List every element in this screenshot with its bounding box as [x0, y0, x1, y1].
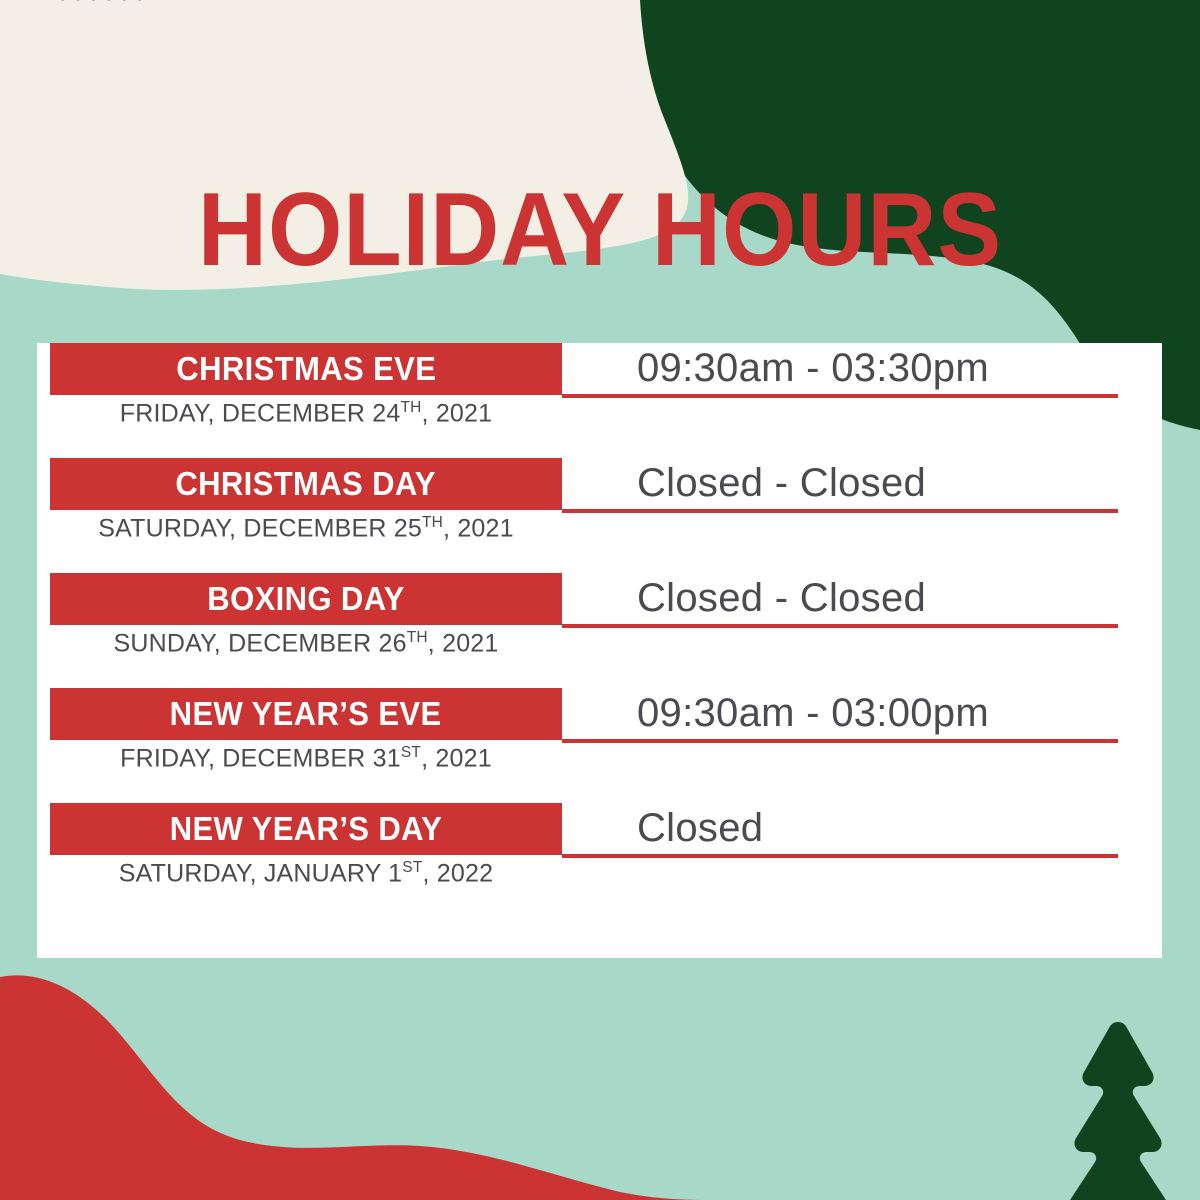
- holiday-name: NEW YEAR’S EVE: [170, 695, 442, 733]
- christmas-tree-icon: [1070, 1022, 1166, 1200]
- table-row: NEW YEAR’S EVE 09:30am - 03:00pm FRIDAY,…: [37, 688, 1162, 803]
- holiday-name: CHRISTMAS EVE: [176, 350, 436, 388]
- red-wave-shape: [0, 975, 720, 1200]
- table-row: CHRISTMAS EVE 09:30am - 03:30pm FRIDAY, …: [37, 343, 1162, 458]
- holiday-date-prefix: FRIDAY, DECEMBER 24: [120, 399, 401, 427]
- holiday-hours-value: 09:30am - 03:00pm: [637, 684, 1157, 742]
- holiday-hours-value: Closed - Closed: [637, 569, 1157, 627]
- holiday-date: FRIDAY, DECEMBER 24TH, 2021: [50, 399, 562, 428]
- holiday-date-ordinal: ST: [401, 744, 421, 761]
- holiday-date-prefix: SUNDAY, DECEMBER 26: [113, 629, 406, 657]
- row-underline: [562, 739, 1118, 743]
- row-underline: [562, 624, 1118, 628]
- holiday-name: BOXING DAY: [207, 580, 404, 618]
- table-row: CHRISTMAS DAY Closed - Closed SATURDAY, …: [37, 458, 1162, 573]
- holiday-date-suffix: , 2021: [443, 514, 514, 542]
- holiday-date-prefix: FRIDAY, DECEMBER 31: [120, 744, 401, 772]
- holiday-name-bar: BOXING DAY: [50, 573, 562, 625]
- holiday-hours-value: Closed - Closed: [637, 454, 1157, 512]
- holiday-name-bar: NEW YEAR’S DAY: [50, 803, 562, 855]
- holiday-date-prefix: SATURDAY, JANUARY 1: [119, 859, 403, 887]
- holiday-name: CHRISTMAS DAY: [176, 465, 437, 503]
- row-underline: [562, 394, 1118, 398]
- holiday-hours-poster: • • • • • • HOLIDAY HOURS CHRISTMAS EVE …: [0, 0, 1200, 1200]
- holiday-date-suffix: , 2022: [423, 859, 494, 887]
- table-row: NEW YEAR’S DAY Closed SATURDAY, JANUARY …: [37, 803, 1162, 913]
- holiday-date-prefix: SATURDAY, DECEMBER 25: [98, 514, 422, 542]
- holiday-date-suffix: , 2021: [428, 629, 499, 657]
- holiday-hours-value: 09:30am - 03:30pm: [637, 339, 1157, 397]
- row-underline: [562, 854, 1118, 858]
- holiday-date-ordinal: TH: [407, 629, 428, 646]
- row-underline: [562, 509, 1118, 513]
- holiday-hours-value: Closed: [637, 799, 1157, 857]
- holiday-date-ordinal: ST: [402, 859, 422, 876]
- table-row: BOXING DAY Closed - Closed SUNDAY, DECEM…: [37, 573, 1162, 688]
- page-title: HOLIDAY HOURS: [48, 178, 1152, 282]
- holiday-name: NEW YEAR’S DAY: [170, 810, 442, 848]
- holiday-hours-card: CHRISTMAS EVE 09:30am - 03:30pm FRIDAY, …: [37, 343, 1162, 958]
- holiday-name-bar: CHRISTMAS DAY: [50, 458, 562, 510]
- holiday-date: SATURDAY, DECEMBER 25TH, 2021: [50, 514, 562, 543]
- holiday-date: SUNDAY, DECEMBER 26TH, 2021: [50, 629, 562, 658]
- holiday-date: SATURDAY, JANUARY 1ST, 2022: [50, 859, 562, 888]
- holiday-date-suffix: , 2021: [422, 399, 493, 427]
- holiday-name-bar: CHRISTMAS EVE: [50, 343, 562, 395]
- holiday-date-ordinal: TH: [422, 514, 443, 531]
- holiday-name-bar: NEW YEAR’S EVE: [50, 688, 562, 740]
- holiday-date-suffix: , 2021: [421, 744, 492, 772]
- holiday-date-ordinal: TH: [400, 399, 421, 416]
- holiday-date: FRIDAY, DECEMBER 31ST, 2021: [50, 744, 562, 773]
